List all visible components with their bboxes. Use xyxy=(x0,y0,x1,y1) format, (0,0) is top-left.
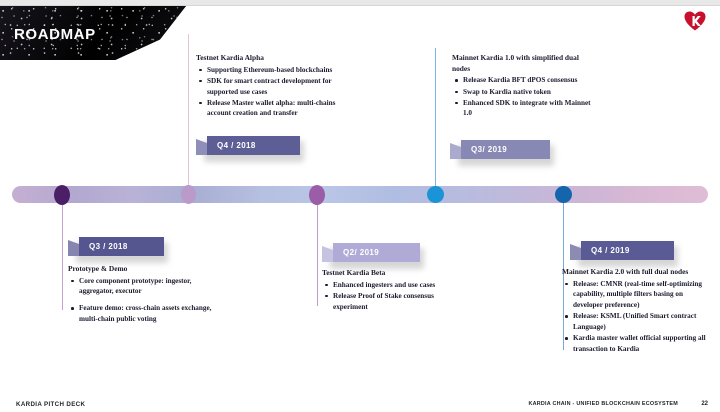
milestone-block-q3-2018: Prototype & DemoCore component prototype… xyxy=(68,264,218,325)
badge-body: Q2/ 2019 xyxy=(333,243,420,262)
milestone-heading: Testnet Kardia Alpha xyxy=(196,53,361,64)
node-q4-2018[interactable] xyxy=(181,185,196,204)
footer-right-text: KARDIA CHAIN - UNIFIED BLOCKCHAIN ECOSYS… xyxy=(528,401,678,407)
roadmap-slide: ROADMAP Q4 / 2018Testnet Kardia AlphaSup… xyxy=(0,0,720,412)
connector-line-q2-2019 xyxy=(317,200,318,306)
badge-body: Q4 / 2019 xyxy=(581,241,674,260)
milestone-heading: Mainnet Kardia 1.0 with simplified dual … xyxy=(452,53,592,74)
quarter-badge-q2-2019[interactable]: Q2/ 2019 xyxy=(322,243,420,262)
milestone-bullet: Swap to Kardia native token xyxy=(452,87,592,98)
milestone-block-q3-2019: Mainnet Kardia 1.0 with simplified dual … xyxy=(452,53,592,120)
milestone-heading: Prototype & Demo xyxy=(68,264,218,275)
quarter-badge-q3-2019[interactable]: Q3/ 2019 xyxy=(450,140,550,159)
badge-body: Q3 / 2018 xyxy=(79,237,164,256)
milestone-bullet: Kardia master wallet official supporting… xyxy=(562,333,714,354)
quarter-badge-q3-2018[interactable]: Q3 / 2018 xyxy=(68,237,164,256)
milestone-bullet-list: Core component prototype: ingestor, aggr… xyxy=(68,276,218,325)
top-band-divider xyxy=(0,5,720,6)
milestone-heading: Testnet Kardia Beta xyxy=(322,268,462,279)
node-q2-2019[interactable] xyxy=(309,185,325,205)
footer-page-number: 22 xyxy=(701,401,708,407)
quarter-label: Q4 / 2018 xyxy=(207,141,256,150)
badge-body: Q3/ 2019 xyxy=(461,140,550,159)
milestone-bullet: Enhanced SDK to integrate with Mainnet 1… xyxy=(452,98,592,119)
quarter-badge-q4-2019[interactable]: Q4 / 2019 xyxy=(570,241,674,260)
milestone-bullet: Release Kardia BFT dPOS consensus xyxy=(452,75,592,86)
milestone-block-q2-2019: Testnet Kardia BetaEnhanced ingesters an… xyxy=(322,268,462,313)
connector-line-q3-2019 xyxy=(435,48,436,186)
milestone-bullet: Supporting Ethereum-based blockchains xyxy=(196,65,361,76)
badge-body: Q4 / 2018 xyxy=(207,136,300,155)
milestone-bullet: Release Proof of Stake consensus experim… xyxy=(322,291,462,312)
page-title: ROADMAP xyxy=(14,26,96,43)
node-q3-2019[interactable] xyxy=(427,186,444,203)
connector-line-q3-2018 xyxy=(62,200,63,310)
quarter-label: Q4 / 2019 xyxy=(581,246,630,255)
connector-line-q4-2018 xyxy=(188,34,189,186)
milestone-bullet-list: Release: CMNR (real-time self-optimizing… xyxy=(562,279,714,355)
kardia-heart-logo xyxy=(684,11,706,31)
milestone-heading: Mainnet Kardia 2.0 with full dual nodes xyxy=(562,267,714,278)
milestone-bullet: Release Master wallet alpha: multi-chain… xyxy=(196,98,361,119)
milestone-bullet-list: Enhanced ingesters and use casesRelease … xyxy=(322,280,462,312)
milestone-bullet: Release: KSML (Unified Smart contract La… xyxy=(562,311,714,332)
quarter-label: Q3/ 2019 xyxy=(461,145,507,154)
quarter-label: Q3 / 2018 xyxy=(79,242,128,251)
milestone-bullet-list: Release Kardia BFT dPOS consensusSwap to… xyxy=(452,75,592,119)
milestone-bullet: Enhanced ingesters and use cases xyxy=(322,280,462,291)
timeline-bar xyxy=(12,186,708,203)
quarter-badge-q4-2018[interactable]: Q4 / 2018 xyxy=(196,136,300,155)
milestone-bullet-list: Supporting Ethereum-based blockchainsSDK… xyxy=(196,65,361,119)
quarter-label: Q2/ 2019 xyxy=(333,248,379,257)
milestone-bullet: SDK for smart contract development for s… xyxy=(196,76,361,97)
milestone-block-q4-2018: Testnet Kardia AlphaSupporting Ethereum-… xyxy=(196,53,361,120)
milestone-bullet: Release: CMNR (real-time self-optimizing… xyxy=(562,279,714,311)
milestone-bullet: Core component prototype: ingestor, aggr… xyxy=(68,276,218,297)
node-q4-2019[interactable] xyxy=(555,186,572,203)
footer-left-text: KARDIA PITCH DECK xyxy=(16,401,85,408)
node-q3-2018[interactable] xyxy=(54,185,70,205)
milestone-bullet: Feature demo: cross-chain assets exchang… xyxy=(68,303,218,324)
milestone-block-q4-2019: Mainnet Kardia 2.0 with full dual nodesR… xyxy=(562,267,714,355)
